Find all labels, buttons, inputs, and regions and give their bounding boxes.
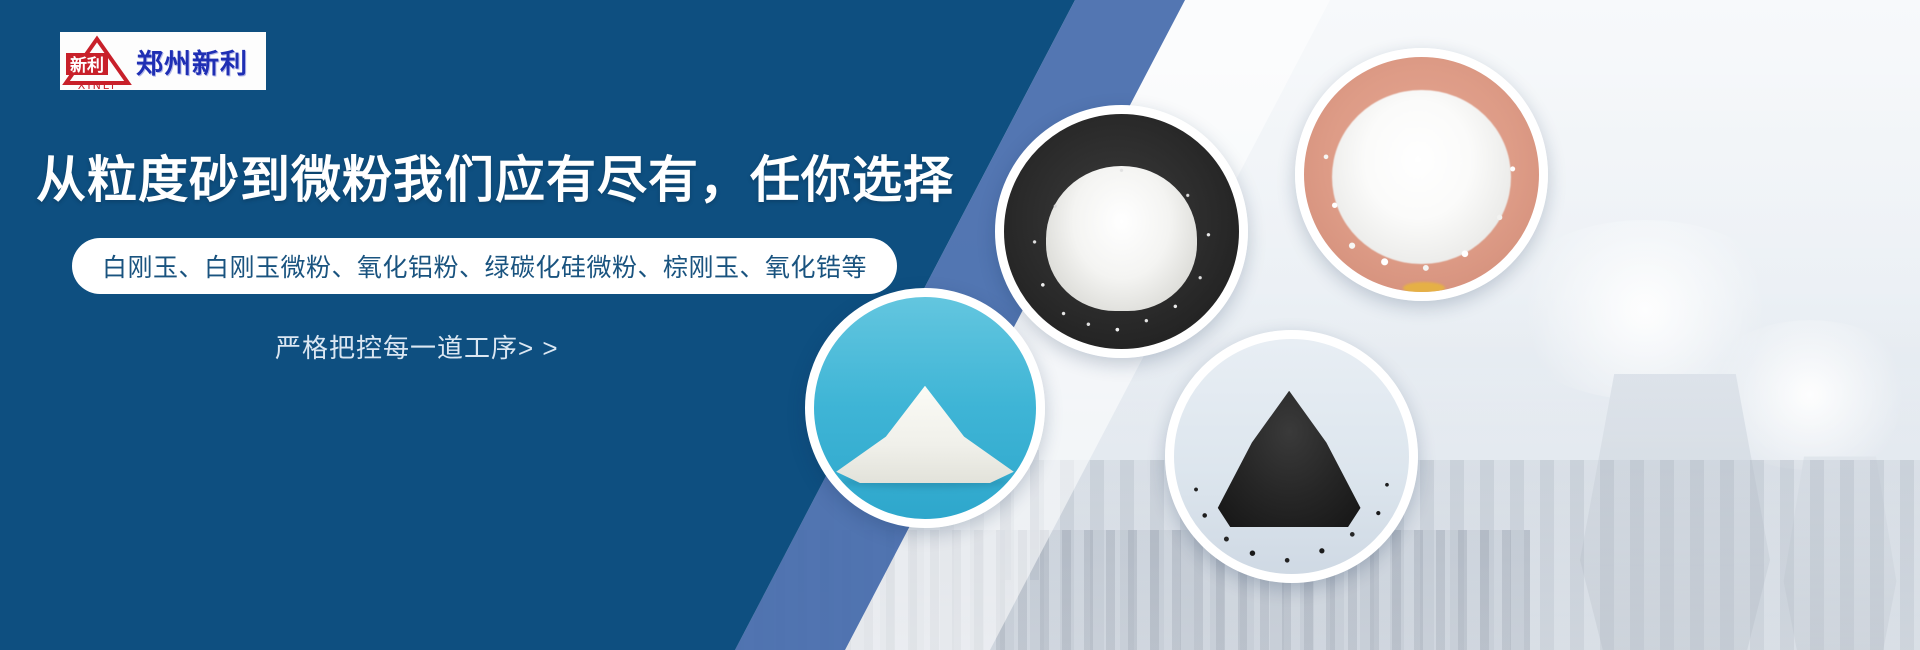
banner-content: 新利 XINLI 郑州新利 从粒度砂到微粉我们应有尽有，任你选择 白刚玉、白刚玉… — [0, 0, 1000, 650]
scattered-grains — [1018, 156, 1225, 335]
product-list-pill: 白刚玉、白刚玉微粉、氧化铝粉、绿碳化硅微粉、棕刚玉、氧化锆等 — [72, 238, 897, 294]
banner-headline: 从粒度砂到微粉我们应有尽有，任你选择 — [36, 140, 954, 212]
logo-mark-top-text: 新利 — [70, 55, 104, 76]
product-photo-black-silicon-carbide-grit — [1165, 330, 1418, 583]
logo-mark-bottom-text: XINLI — [78, 79, 116, 90]
scattered-grains — [1313, 76, 1529, 278]
logo-wordmark: 郑州新利 — [136, 42, 248, 81]
scattered-grains — [1183, 447, 1399, 565]
product-photo-white-fused-alumina-grains — [995, 105, 1248, 358]
product-photo-white-alumina-powder — [1295, 48, 1548, 301]
banner-subtitle-link[interactable]: 严格把控每一道工序> > — [275, 328, 559, 365]
triangle-logo-icon: 新利 XINLI — [60, 32, 134, 90]
company-logo[interactable]: 新利 XINLI 郑州新利 — [60, 32, 266, 90]
plate-rim-highlight — [1403, 282, 1445, 294]
promotional-banner: 新利 XINLI 郑州新利 从粒度砂到微粉我们应有尽有，任你选择 白刚玉、白刚玉… — [0, 0, 1920, 650]
product-list-text: 白刚玉、白刚玉微粉、氧化铝粉、绿碳化硅微粉、棕刚玉、氧化锆等 — [102, 248, 867, 284]
